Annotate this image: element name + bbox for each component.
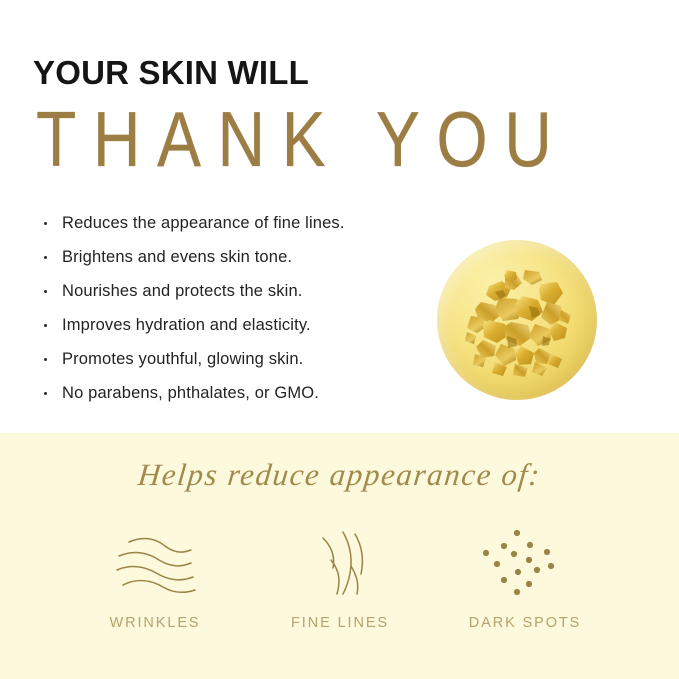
skincare-benefits-infographic: YOUR SKIN WILL THANK YOU Reduces the app… [0,0,679,679]
panel-heading: Helps reduce appearance of: [0,457,679,493]
bottom-cream-panel: Helps reduce appearance of: WRINKLES [0,433,679,679]
benefit-item: Brightens and evens skin tone. [42,246,442,269]
benefits-list: Reduces the appearance of fine lines. Br… [42,212,442,416]
vertical-lines-icon [301,525,379,603]
concern-fine-lines: FINE LINES [255,525,425,631]
benefit-item: Reduces the appearance of fine lines. [42,212,442,235]
scattered-dots-icon [477,525,573,603]
concern-dark-spots: DARK SPOTS [440,525,610,631]
concern-label: WRINKLES [110,615,201,631]
headline-primary: YOUR SKIN WILL [33,56,309,89]
concerns-row: WRINKLES FINE LINES [70,525,610,631]
benefit-item: Promotes youthful, glowing skin. [42,348,442,371]
concern-wrinkles: WRINKLES [70,525,240,631]
headline-secondary: THANK YOU [36,100,568,178]
gold-leaf-flakes-icon [437,240,597,400]
top-white-section: YOUR SKIN WILL THANK YOU Reduces the app… [0,0,679,433]
benefit-item: No parabens, phthalates, or GMO. [42,382,442,405]
concern-label: DARK SPOTS [469,615,581,631]
gold-leaf-circle [437,240,597,400]
wavy-lines-icon [103,525,207,603]
concern-label: FINE LINES [291,615,389,631]
benefit-item: Improves hydration and elasticity. [42,314,442,337]
benefit-item: Nourishes and protects the skin. [42,280,442,303]
